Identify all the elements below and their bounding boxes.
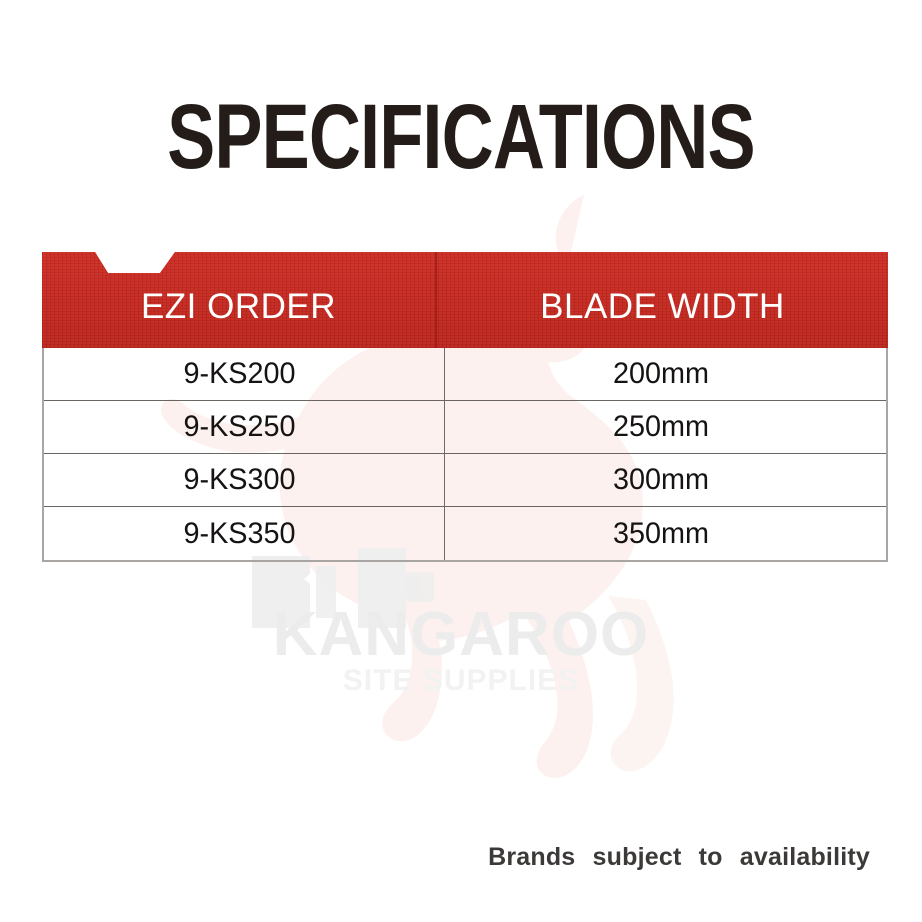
- cell-ezi-order: 9-KS300: [52, 454, 427, 506]
- table-row: 9-KS250 250mm: [44, 401, 886, 454]
- table-row: 9-KS200 200mm: [44, 348, 886, 401]
- cell-blade-width: 200mm: [444, 348, 877, 400]
- table-row: 9-KS350 350mm: [44, 507, 886, 560]
- page-title-text: SPECIFICATIONS: [167, 92, 755, 184]
- column-header-ezi-order: EZI ORDER: [42, 252, 435, 348]
- cell-ezi-order: 9-KS350: [52, 507, 427, 560]
- availability-note: Brands subject to availability: [488, 843, 870, 872]
- watermark-tagline-text: SITE SUPPLIES: [343, 664, 579, 697]
- table-body: 9-KS200 200mm 9-KS250 250mm 9-KS300 300m…: [42, 348, 888, 562]
- cell-blade-width: 250mm: [444, 401, 877, 453]
- column-header-blade-width: BLADE WIDTH: [435, 252, 888, 348]
- table-header-row: EZI ORDER BLADE WIDTH: [42, 252, 888, 348]
- specifications-table: EZI ORDER BLADE WIDTH 9-KS200 200mm 9-KS…: [42, 252, 888, 562]
- specifications-page: KANGAROO SITE SUPPLIES SPECIFICATIONS EZ…: [0, 0, 922, 922]
- cell-ezi-order: 9-KS200: [52, 348, 427, 400]
- cell-blade-width: 350mm: [444, 507, 877, 560]
- watermark-brand-text: KANGAROO: [273, 600, 650, 669]
- page-title: SPECIFICATIONS: [0, 92, 922, 174]
- table-row: 9-KS300 300mm: [44, 454, 886, 507]
- cell-blade-width: 300mm: [444, 454, 877, 506]
- cell-ezi-order: 9-KS250: [52, 401, 427, 453]
